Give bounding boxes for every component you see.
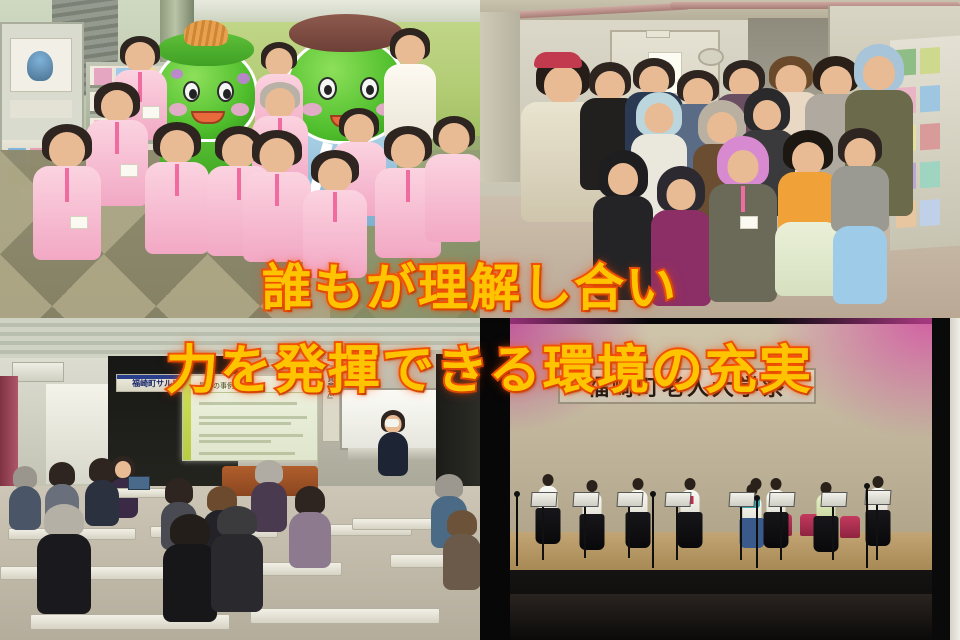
music-stand	[740, 504, 742, 560]
music-stand	[780, 504, 782, 560]
office-column	[480, 12, 520, 182]
poster-strip	[10, 100, 72, 118]
stage-banner: 福崎町老人大学祭	[558, 368, 816, 404]
music-stand	[584, 504, 586, 558]
volunteer-person	[30, 124, 104, 284]
door-sign	[646, 30, 670, 38]
music-stand	[628, 504, 630, 558]
stage-banner-text: 福崎町老人大学祭	[587, 370, 787, 402]
attendee-person	[36, 504, 92, 614]
participant-person-hijab	[590, 150, 656, 312]
stage-right-wing	[932, 318, 950, 640]
panel-stage-performance: 福崎町老人大学祭	[480, 318, 960, 640]
vertical-banner: 『悪質商法』	[322, 358, 340, 442]
participant-person-hijab	[648, 166, 714, 316]
vertical-banner-text: 『悪質商法』	[326, 361, 336, 403]
audience-silhouette	[480, 594, 960, 640]
panel-salvia-seminar-room: 福崎町サルビアセミナー 最近の事例（2） 『悪質商法』	[0, 318, 480, 640]
music-stand	[676, 504, 678, 560]
music-stand	[876, 502, 878, 560]
volunteer-person	[300, 150, 370, 300]
music-stand	[542, 504, 544, 560]
participant-person	[828, 128, 892, 316]
air-conditioner	[12, 362, 64, 382]
attendee-person	[210, 506, 264, 612]
seminar-dark-corner	[436, 354, 480, 494]
presenter-person	[376, 410, 410, 486]
attendee-desk	[250, 608, 440, 624]
seminar-photo-scene: 福崎町サルビアセミナー 最近の事例（2） 『悪質商法』	[0, 318, 480, 640]
attendee-person	[442, 510, 480, 588]
attendee-person	[288, 486, 332, 566]
music-stand	[832, 504, 834, 560]
stage-left-wing	[480, 318, 510, 640]
participant-person-hijab	[706, 136, 780, 316]
volunteer-person	[142, 122, 212, 282]
panel-right-edge-strip	[950, 318, 960, 640]
exchange-photo-scene	[480, 0, 960, 318]
lobby-photo-scene: 受付	[0, 0, 480, 318]
laptop	[128, 476, 150, 490]
slide-title-underline	[197, 392, 309, 393]
microphone-stand	[866, 488, 868, 568]
panel-international-exchange-group	[480, 0, 960, 318]
slide-accent-bar	[183, 376, 191, 460]
microphone-stand	[652, 496, 654, 568]
performer	[530, 474, 566, 558]
microphone-stand	[516, 496, 518, 566]
stage-photo-scene: 福崎町老人大学祭	[480, 318, 960, 640]
projection-screen: 最近の事例（2）	[182, 375, 318, 461]
volunteer-person	[424, 116, 480, 266]
poster-portrait	[10, 38, 72, 92]
photo-collage: 受付	[0, 0, 960, 640]
slide-title: 最近の事例（2）	[199, 381, 252, 391]
microphone-stand	[756, 500, 758, 568]
panel-lobby-group-photo: 受付	[0, 0, 480, 318]
